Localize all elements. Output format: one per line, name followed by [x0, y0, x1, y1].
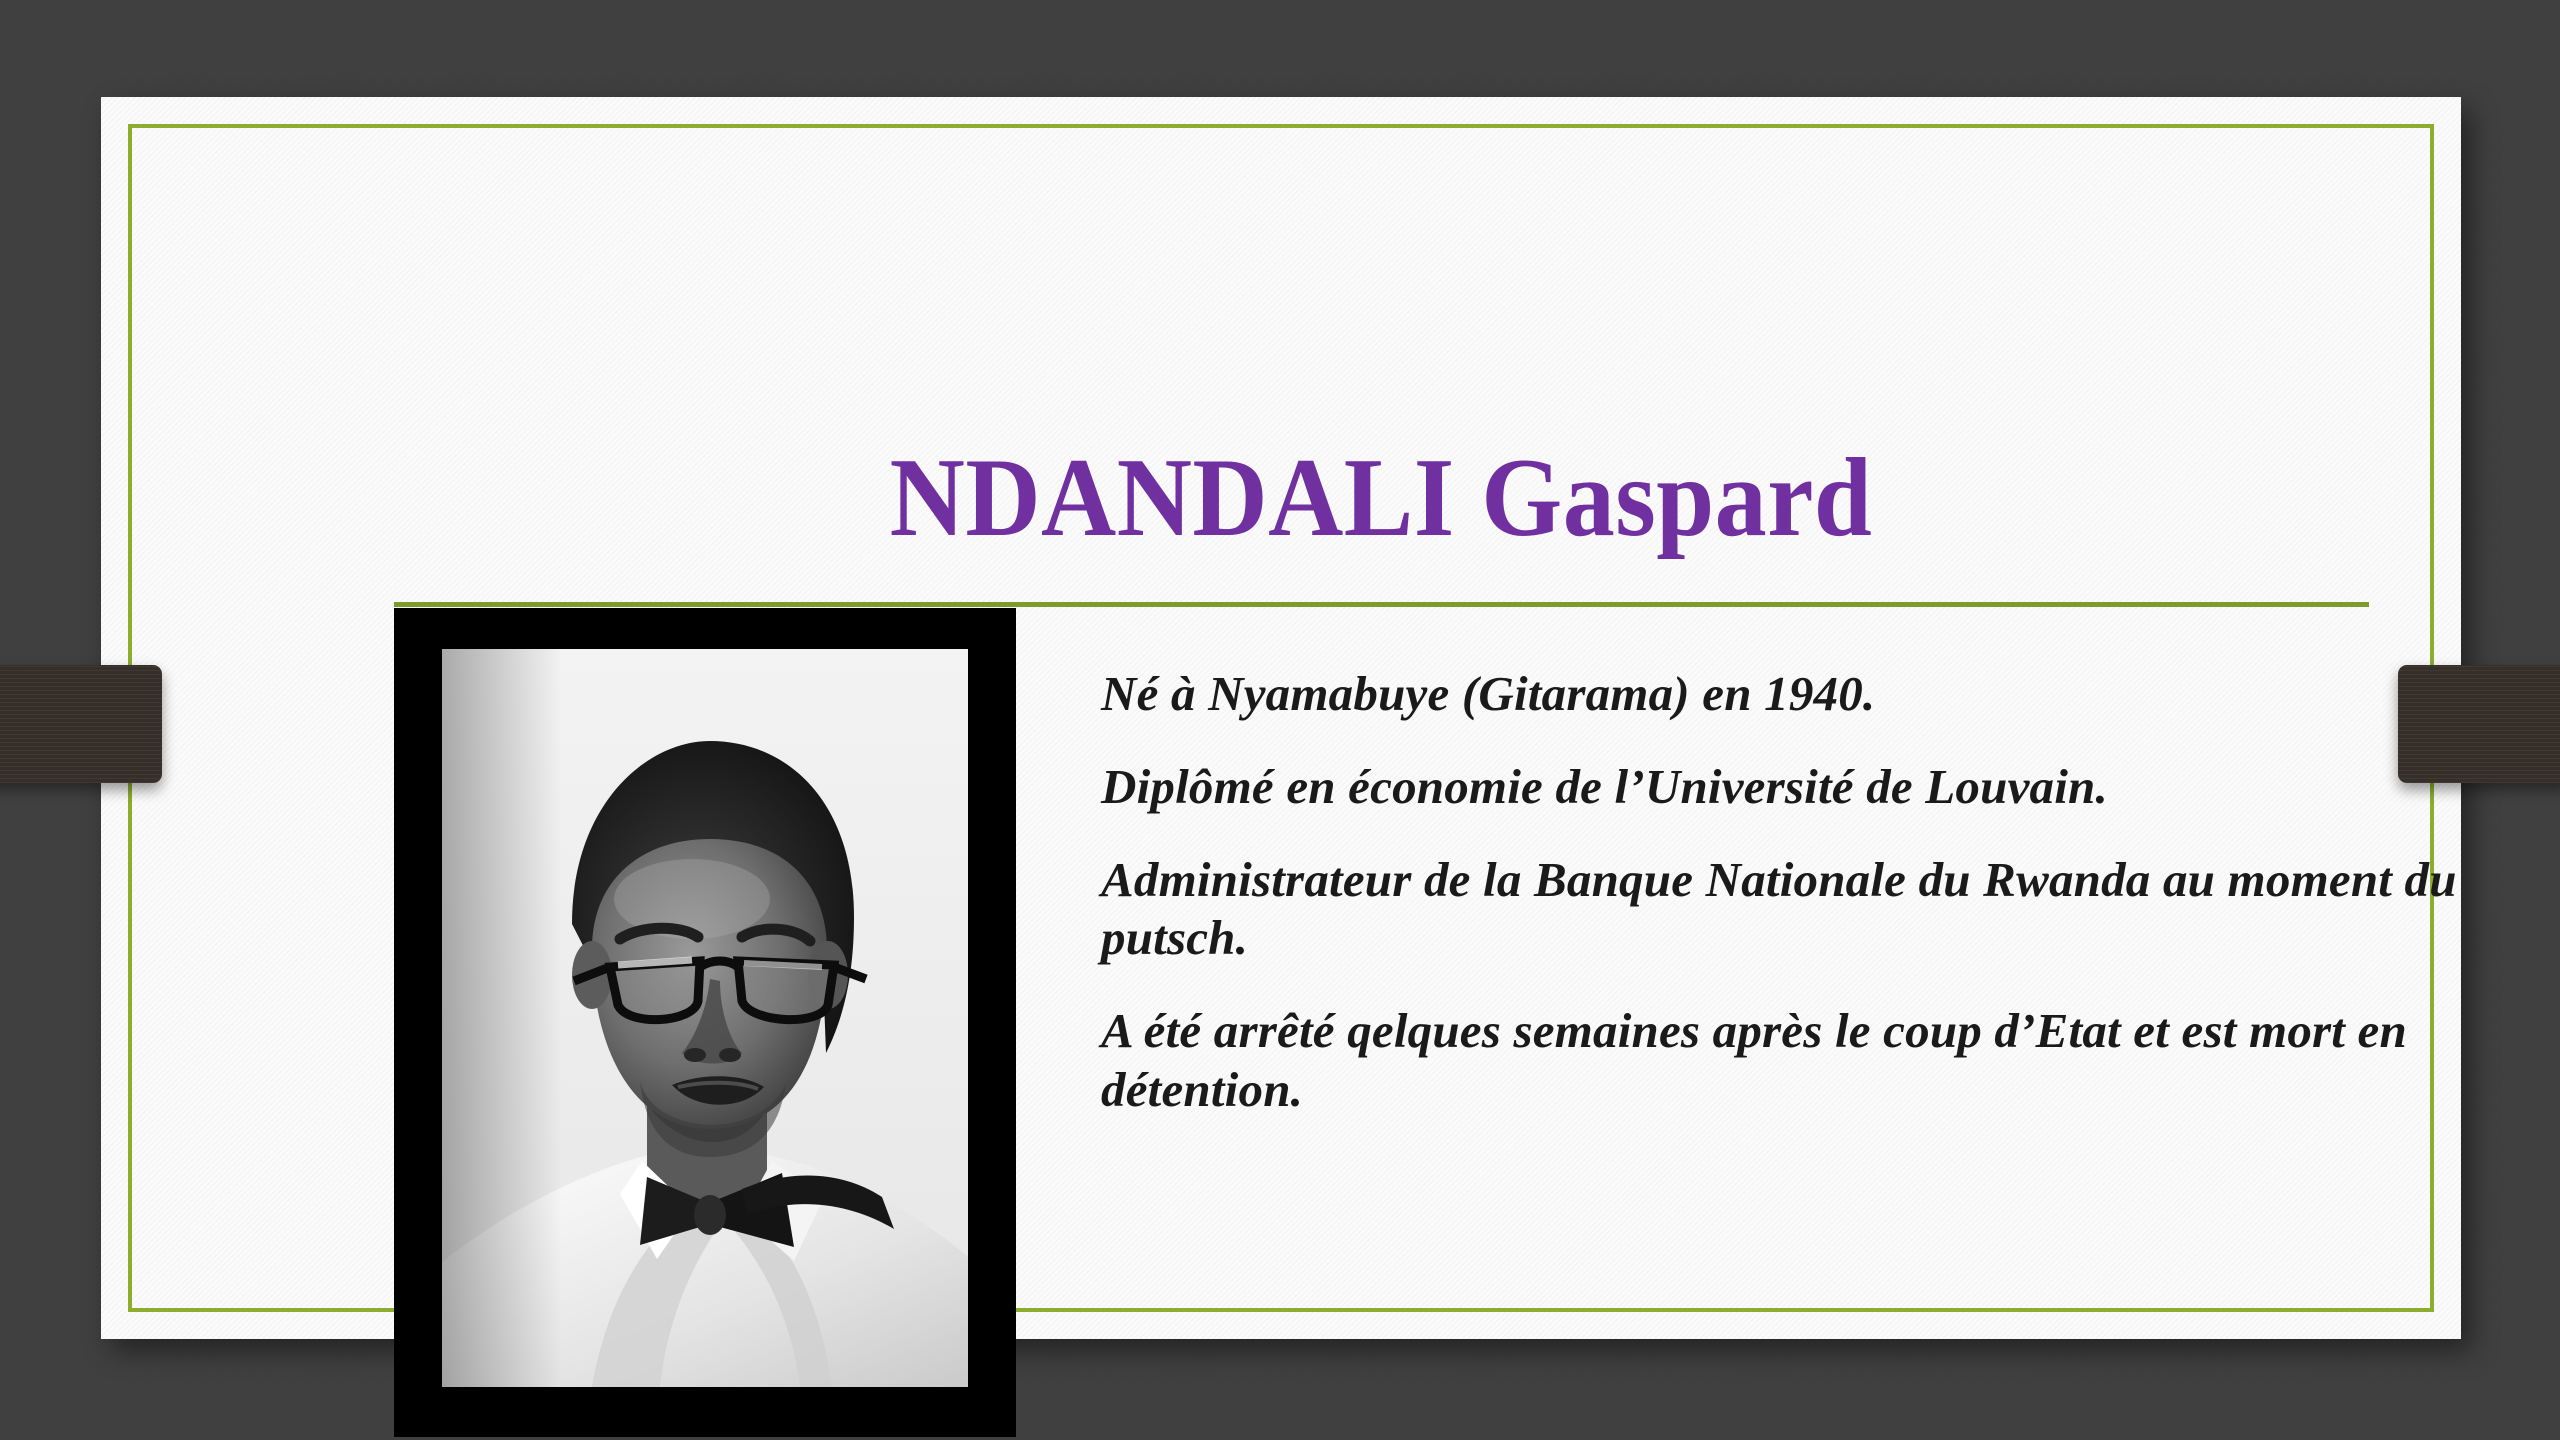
title-divider-rule [394, 602, 2369, 607]
presentation-slide: NDANDALI Gaspard [0, 0, 2560, 1440]
bullet-item: Né à Nyamabuye (Gitarama) en 1940. [1101, 665, 2521, 724]
right-decorative-band [2398, 665, 2560, 783]
portrait-frame [394, 608, 1016, 1437]
slide-body-text: Né à Nyamabuye (Gitarama) en 1940. Diplô… [1101, 665, 2521, 1120]
bullet-item: A été arrêté qelques semaines après le c… [1101, 1002, 2521, 1120]
slide-canvas: NDANDALI Gaspard [101, 97, 2461, 1339]
left-decorative-band [0, 665, 162, 783]
bullet-item: Administrateur de la Banque Nationale du… [1101, 851, 2521, 969]
slide-title: NDANDALI Gaspard [191, 440, 2560, 558]
portrait-photograph-artwork [442, 649, 968, 1387]
portrait-photograph [442, 649, 968, 1387]
bullet-item: Diplômé en économie de l’Université de L… [1101, 758, 2521, 817]
portrait-mat [442, 649, 968, 1387]
